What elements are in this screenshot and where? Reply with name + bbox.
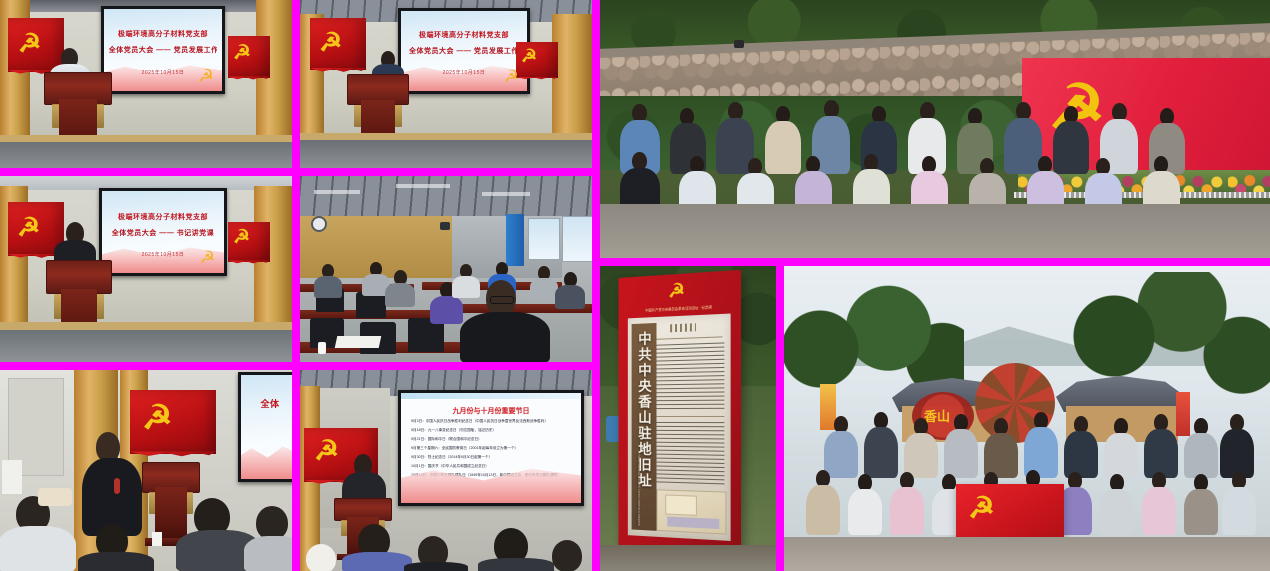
- monument-header-text: 中国共产党中央委员会革命活动旧址 · 纪念碑: [626, 303, 733, 313]
- speaker-box-icon: [440, 222, 450, 230]
- stage-floor: [0, 328, 292, 362]
- slide-item: 10月14日：中国少年先锋队建队日（1949年10月13日，新中国成立后，团中央…: [411, 473, 561, 478]
- photo-speaker-with-microphone[interactable]: ☭ 全体: [0, 370, 292, 571]
- screen-partial-text: 全体: [243, 397, 292, 410]
- pavement: [784, 537, 1270, 571]
- projector-screen: 九月份与十月份重要节日 9月3日：中国人民抗日战争胜利纪念日（中国人民抗日战争暨…: [398, 390, 584, 506]
- photo-group-photo-xiangshan-gate[interactable]: 香山: [784, 266, 1270, 571]
- foreground-attendee-body: [460, 312, 550, 362]
- slide-item: 10月1日：国庆节（中华人民共和国成立纪念日）: [411, 464, 489, 469]
- stage-floor: [300, 138, 592, 168]
- party-flag-right: ☭: [516, 42, 558, 78]
- party-flag-right: ☭: [228, 222, 270, 262]
- photo-group-photo-stone-wall[interactable]: ☭: [600, 0, 1270, 258]
- photo-collage: 极端环境高分子材料党支部 全体党员大会 —— 党员发展工作 2025年10月15…: [0, 0, 1270, 571]
- monument-title-band: 中共中央香山驻地旧址 Former Residence of the CPC C…: [632, 323, 657, 531]
- monument-body: ☭ 中国共产党中央委员会革命活动旧址 · 纪念碑 中共中央香山驻: [618, 270, 741, 564]
- hammer-sickle-icon: ☭: [504, 67, 519, 87]
- window: [528, 218, 560, 260]
- plaque-ornament: [670, 323, 696, 332]
- slide-item-text: 10月25日：抗美援朝纪念日；: [411, 482, 459, 486]
- hammer-sickle-icon: ☭: [968, 494, 995, 524]
- hammer-sickle-icon: ☭: [668, 282, 685, 302]
- screen-title-line2: 全体党员大会 —— 党员发展工作: [406, 46, 522, 56]
- curtain: [506, 214, 524, 266]
- slide-item: 9月30日：烈士纪念日（2014年9月30日起第一个）: [411, 455, 492, 460]
- projector-screen: 全体: [238, 372, 292, 482]
- microphone-icon: [114, 478, 120, 494]
- slide-title: 九月份与十月份重要节日: [401, 406, 581, 416]
- paper-document: [335, 336, 382, 348]
- ground: [600, 545, 776, 571]
- wall-clock-icon: [311, 216, 327, 232]
- hammer-sickle-icon: ☭: [319, 29, 342, 55]
- monument-title-en: Former Residence of the CPC Central Comm…: [637, 454, 640, 526]
- hammer-sickle-icon: ☭: [142, 401, 172, 435]
- photo-conference-room-attendees[interactable]: [300, 176, 592, 362]
- pavement: [600, 204, 1270, 258]
- hammer-sickle-icon: ☭: [521, 47, 537, 65]
- paper-cup: [152, 532, 162, 546]
- screen-title-line1: 极端环境高分子材料党支部: [406, 30, 522, 40]
- screen-title-line2: 全体党员大会 —— 书记讲党课: [107, 228, 219, 238]
- screen-title-line1: 极端环境高分子材料党支部: [109, 29, 218, 39]
- hammer-sickle-icon: ☭: [233, 228, 250, 247]
- ceiling-grid: [300, 176, 592, 218]
- glasses-icon: [490, 296, 514, 304]
- hammer-sickle-icon: ☭: [233, 43, 251, 63]
- hammer-sickle-icon: ☭: [314, 437, 339, 465]
- slide-item: 9月18日：九一八事变纪念日（勿忘国耻，铭记历史）: [411, 428, 496, 433]
- hammer-sickle-icon: ☭: [198, 66, 214, 87]
- photo-auditorium-speaker-podium-2[interactable]: 极端环境高分子材料党支部 全体党员大会 —— 党员发展工作 2025年10月15…: [300, 0, 592, 168]
- hammer-sickle-icon: ☭: [17, 214, 40, 240]
- hammer-sickle-icon: ☭: [18, 30, 41, 56]
- photo-lecture-slide-holidays[interactable]: ☭ 九月份与十月份重要节日 9月3日：中国人民抗日战争胜利纪念日（中国人民抗日战…: [300, 370, 592, 571]
- table-items: [38, 488, 72, 506]
- slide-item: 10月25日：抗美援朝纪念日； 老年节/重阳节（中华民族传统敬老节日）: [411, 482, 525, 487]
- projector-screen: 极端环境高分子材料党支部 全体党员大会 —— 党员发展工作 2025年10月15…: [101, 6, 225, 94]
- slide-item: 9月3日：中国人民抗日战争胜利纪念日（中国人民抗日战争暨世界反法西斯战争胜利）: [411, 419, 548, 424]
- plaque-body-text: [656, 342, 724, 412]
- photo-auditorium-speaker-podium-1[interactable]: 极端环境高分子材料党支部 全体党员大会 —— 党员发展工作 2025年10月15…: [0, 0, 292, 168]
- plaque-body-text-2: [656, 422, 724, 485]
- slide-item-highlight: 老年节/重阳节（中华民族传统敬老节日）: [460, 482, 526, 486]
- slide-item: 9月21日：国际和平日（联合国和平纪念日）: [411, 437, 482, 442]
- projector-screen: 极端环境高分子材料党支部 全体党员大会 —— 书记讲党课 2025年10月15日…: [99, 188, 227, 276]
- party-flag-left: ☭: [8, 18, 64, 72]
- stage-floor: [0, 140, 292, 168]
- photo-monument-sign-xiangshan[interactable]: ☭ 中国共产党中央委员会革命活动旧址 · 纪念碑 中共中央香山驻: [600, 266, 776, 571]
- projector-screen: 极端环境高分子材料党支部 全体党员大会 —— 党员发展工作 2025年10月15…: [398, 8, 530, 94]
- screen-title-line2: 全体党员大会 —— 党员发展工作: [109, 45, 218, 55]
- window: [562, 216, 592, 262]
- seated-person-white-shirt: [2, 460, 22, 494]
- paper-cup: [318, 342, 326, 354]
- security-camera-icon: [734, 40, 744, 48]
- hammer-sickle-icon: ☭: [200, 248, 215, 268]
- screen-title-line1: 极端环境高分子材料党支部: [107, 212, 219, 222]
- party-flag: ☭: [130, 390, 216, 454]
- slide-item: 9月第三个星期六：全民国防教育日（2001年起每年设立为第一个）: [411, 446, 518, 451]
- photo-auditorium-speaker-podium-3[interactable]: 极端环境高分子材料党支部 全体党员大会 —— 书记讲党课 2025年10月15日…: [0, 176, 292, 362]
- plaque-historic-map: [656, 489, 726, 534]
- party-flag-right: ☭: [228, 36, 270, 78]
- party-flag-left: ☭: [310, 18, 366, 70]
